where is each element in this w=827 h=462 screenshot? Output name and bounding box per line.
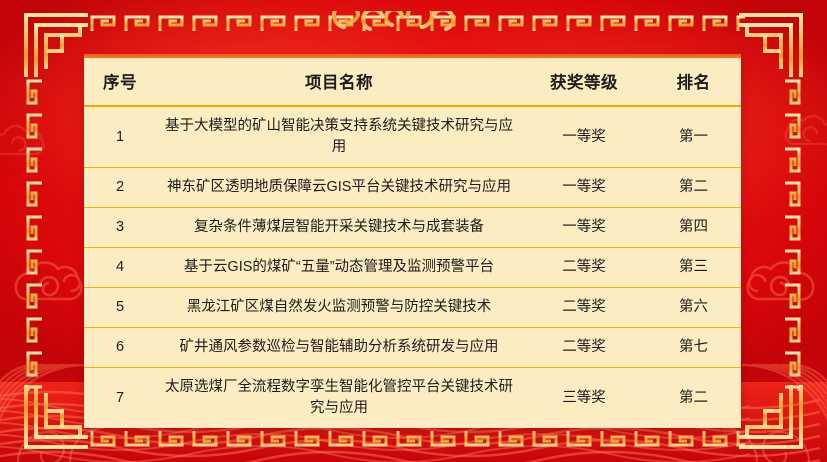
auspicious-cloud-icon: [773, 110, 827, 158]
cell-level: 二等奖: [522, 248, 646, 288]
cell-no: 1: [84, 106, 156, 168]
cell-rank: 第二: [646, 168, 741, 208]
cell-no: 7: [84, 368, 156, 429]
cell-rank: 第七: [646, 328, 741, 368]
cell-name: 矿井通风参数巡检与智能辅助分析系统研发与应用: [156, 328, 522, 368]
table-row: 7 太原选煤厂全流程数字孪生智能化管控平台关键技术研究与应用 三等奖 第二: [84, 368, 741, 429]
cell-name: 黑龙江矿区煤自然发火监测预警与防控关键技术: [156, 288, 522, 328]
cell-name: 基于云GIS的煤矿“五量”动态管理及监测预警平台: [156, 248, 522, 288]
cell-name: 基于大模型的矿山智能决策支持系统关键技术研究与应用: [156, 106, 522, 168]
table-header-row: 序号 项目名称 获奖等级 排名: [84, 58, 741, 106]
cell-rank: 第一: [646, 106, 741, 168]
award-table-panel: 序号 项目名称 获奖等级 排名 1 基于大模型的矿山智能决策支持系统关键技术研究…: [84, 58, 741, 428]
column-header-rank: 排名: [646, 58, 741, 106]
table-row: 3 复杂条件薄煤层智能开采关键技术与成套装备 一等奖 第四: [84, 208, 741, 248]
cell-rank: 第二: [646, 368, 741, 429]
cell-rank: 第四: [646, 208, 741, 248]
auspicious-cloud-icon: [731, 255, 823, 317]
table-row: 1 基于大模型的矿山智能决策支持系统关键技术研究与应用 一等奖 第一: [84, 106, 741, 168]
cell-no: 5: [84, 288, 156, 328]
cell-level: 二等奖: [522, 288, 646, 328]
cell-no: 3: [84, 208, 156, 248]
column-header-name: 项目名称: [156, 58, 522, 106]
cell-level: 一等奖: [522, 168, 646, 208]
column-header-level: 获奖等级: [522, 58, 646, 106]
table-row: 5 黑龙江矿区煤自然发火监测预警与防控关键技术 二等奖 第六: [84, 288, 741, 328]
table-row: 2 神东矿区透明地质保障云GIS平台关键技术研究与应用 一等奖 第二: [84, 168, 741, 208]
cell-level: 三等奖: [522, 368, 646, 429]
cell-no: 6: [84, 328, 156, 368]
cell-no: 4: [84, 248, 156, 288]
auspicious-cloud-icon: [0, 120, 56, 168]
award-table: 序号 项目名称 获奖等级 排名 1 基于大模型的矿山智能决策支持系统关键技术研究…: [84, 58, 741, 428]
slide-canvas: 序号 项目名称 获奖等级 排名 1 基于大模型的矿山智能决策支持系统关键技术研究…: [0, 0, 827, 462]
cell-name: 太原选煤厂全流程数字孪生智能化管控平台关键技术研究与应用: [156, 368, 522, 429]
cell-level: 一等奖: [522, 106, 646, 168]
cell-no: 2: [84, 168, 156, 208]
cell-name: 复杂条件薄煤层智能开采关键技术与成套装备: [156, 208, 522, 248]
cell-level: 一等奖: [522, 208, 646, 248]
table-row: 6 矿井通风参数巡检与智能辅助分析系统研发与应用 二等奖 第七: [84, 328, 741, 368]
cell-rank: 第六: [646, 288, 741, 328]
table-row: 4 基于云GIS的煤矿“五量”动态管理及监测预警平台 二等奖 第三: [84, 248, 741, 288]
cell-level: 二等奖: [522, 328, 646, 368]
column-header-no: 序号: [84, 58, 156, 106]
cell-rank: 第三: [646, 248, 741, 288]
cell-name: 神东矿区透明地质保障云GIS平台关键技术研究与应用: [156, 168, 522, 208]
